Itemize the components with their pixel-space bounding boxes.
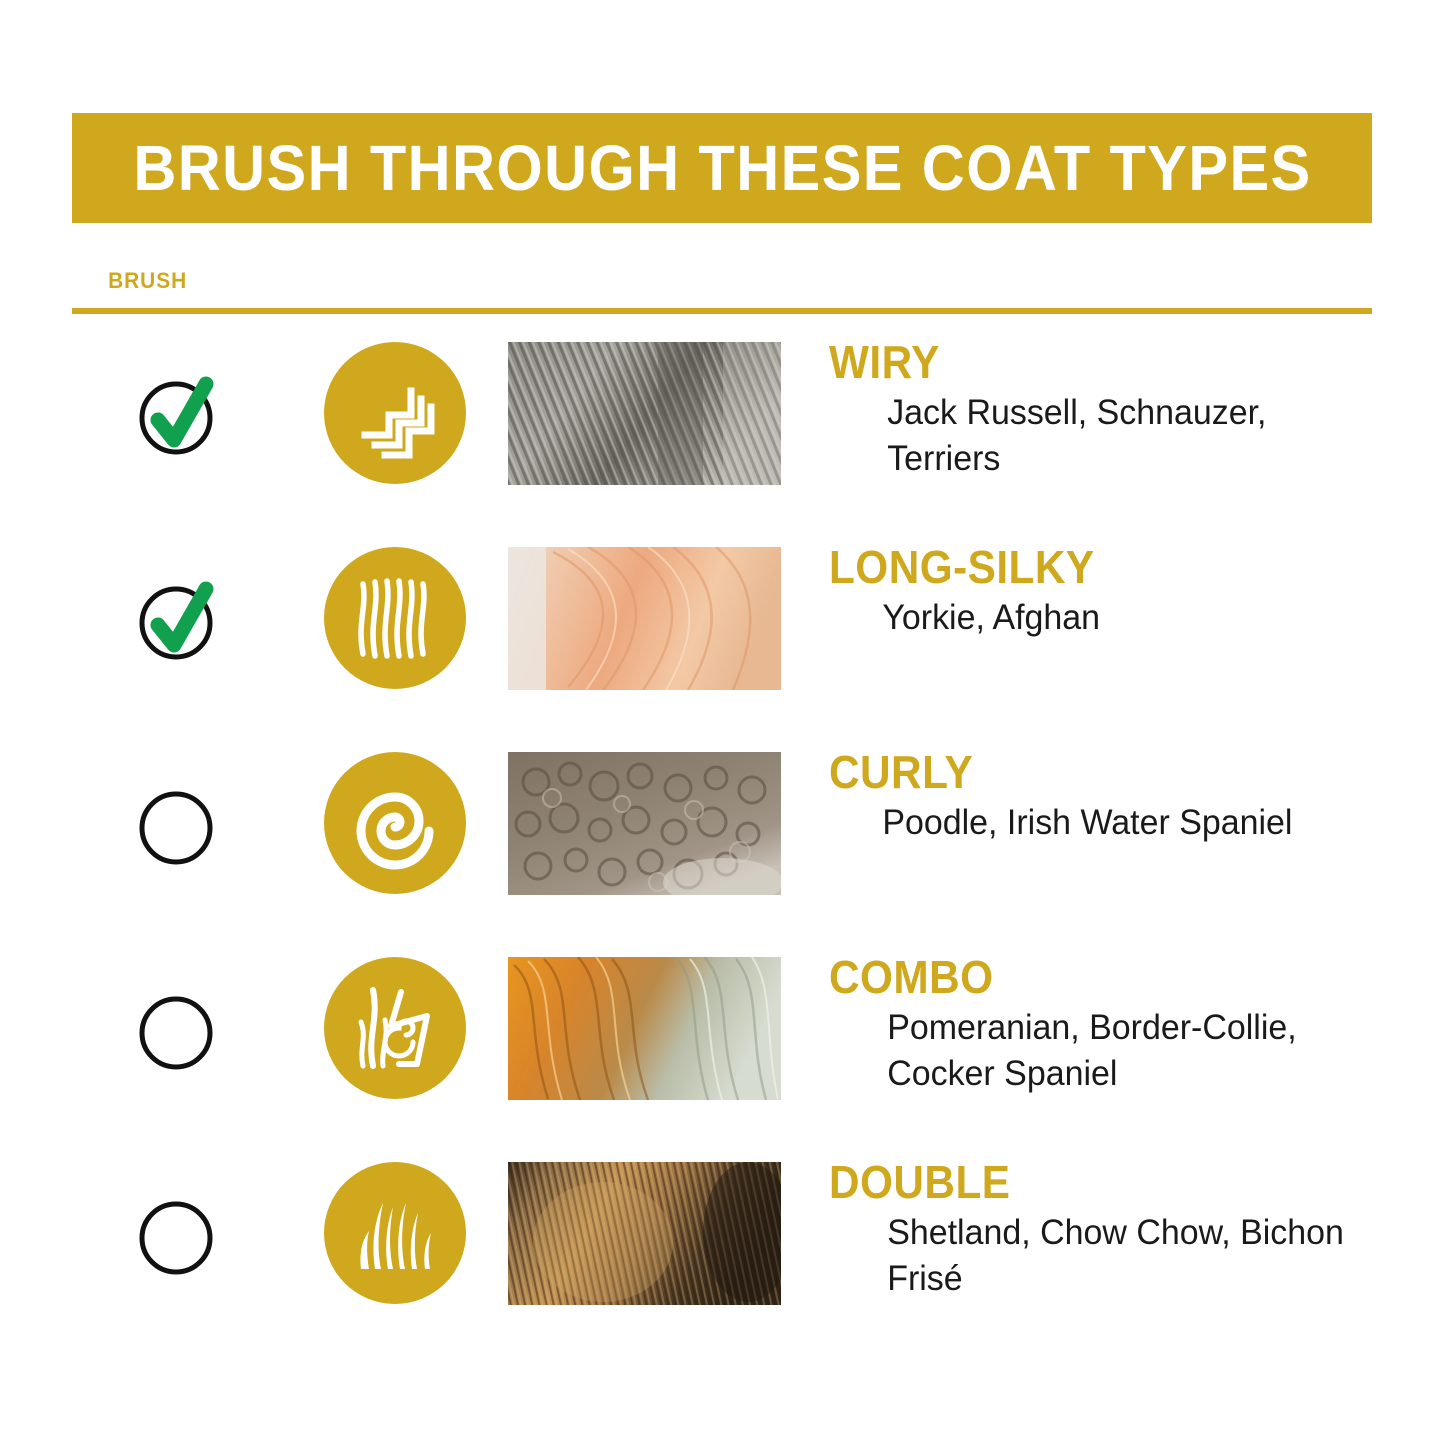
coat-type-list: WIRY Jack Russell, Schnauzer, Terriers bbox=[72, 330, 1372, 1355]
header-banner: BRUSH THROUGH THESE COAT TYPES bbox=[72, 113, 1372, 223]
coat-type-title: CURLY bbox=[829, 748, 1329, 796]
empty-circle-icon[interactable] bbox=[134, 778, 226, 870]
coat-photo-cell bbox=[502, 945, 817, 1100]
column-header: BRUSH bbox=[72, 268, 1372, 314]
table-row: LONG-SILKY Yorkie, Afghan bbox=[72, 535, 1372, 740]
coat-photo-cell bbox=[502, 1150, 817, 1305]
coat-text-cell: CURLY Poodle, Irish Water Spaniel bbox=[817, 740, 1372, 846]
coat-photo-cell bbox=[502, 330, 817, 485]
combo-coat-photo bbox=[508, 957, 781, 1100]
brush-suitability-cell[interactable] bbox=[72, 535, 287, 665]
infographic-page: BRUSH THROUGH THESE COAT TYPES BRUSH bbox=[0, 0, 1445, 1445]
coat-type-breeds: Yorkie, Afghan bbox=[829, 595, 1353, 641]
long-silky-coat-photo bbox=[508, 547, 781, 690]
coat-type-breeds: Jack Russell, Schnauzer, Terriers bbox=[829, 390, 1353, 482]
table-row: CURLY Poodle, Irish Water Spaniel bbox=[72, 740, 1372, 945]
page-title: BRUSH THROUGH THESE COAT TYPES bbox=[133, 136, 1311, 200]
combo-mixed-texture-icon bbox=[324, 957, 466, 1099]
brush-suitability-cell[interactable] bbox=[72, 330, 287, 460]
header-divider bbox=[72, 308, 1372, 314]
empty-circle-icon[interactable] bbox=[134, 983, 226, 1075]
coat-icon-cell bbox=[287, 945, 502, 1099]
wiry-zigzag-icon bbox=[324, 342, 466, 484]
coat-text-cell: WIRY Jack Russell, Schnauzer, Terriers bbox=[817, 330, 1372, 483]
double-coat-photo bbox=[508, 1162, 781, 1305]
brush-suitability-cell[interactable] bbox=[72, 1150, 287, 1280]
double-dense-strands-icon bbox=[324, 1162, 466, 1304]
coat-type-title: DOUBLE bbox=[829, 1158, 1329, 1206]
curly-spiral-icon bbox=[324, 752, 466, 894]
empty-circle-icon[interactable] bbox=[134, 1188, 226, 1280]
coat-type-title: COMBO bbox=[829, 953, 1329, 1001]
coat-type-breeds: Pomeranian, Border-Collie, Cocker Spanie… bbox=[829, 1005, 1353, 1097]
coat-type-breeds: Shetland, Chow Chow, Bichon Frisé bbox=[829, 1210, 1353, 1302]
brush-suitability-cell[interactable] bbox=[72, 945, 287, 1075]
coat-icon-cell bbox=[287, 535, 502, 689]
coat-icon-cell bbox=[287, 330, 502, 484]
coat-text-cell: COMBO Pomeranian, Border-Collie, Cocker … bbox=[817, 945, 1372, 1098]
wiry-coat-photo bbox=[508, 342, 781, 485]
table-row: DOUBLE Shetland, Chow Chow, Bichon Frisé bbox=[72, 1150, 1372, 1355]
coat-icon-cell bbox=[287, 740, 502, 894]
curly-coat-photo bbox=[508, 752, 781, 895]
coat-icon-cell bbox=[287, 1150, 502, 1304]
coat-text-cell: LONG-SILKY Yorkie, Afghan bbox=[817, 535, 1372, 641]
coat-type-breeds: Poodle, Irish Water Spaniel bbox=[829, 800, 1353, 846]
table-row: COMBO Pomeranian, Border-Collie, Cocker … bbox=[72, 945, 1372, 1150]
table-row: WIRY Jack Russell, Schnauzer, Terriers bbox=[72, 330, 1372, 535]
check-circle-icon[interactable] bbox=[134, 368, 226, 460]
coat-type-title: WIRY bbox=[829, 338, 1329, 386]
check-circle-icon[interactable] bbox=[134, 573, 226, 665]
brush-suitability-cell[interactable] bbox=[72, 740, 287, 870]
coat-type-title: LONG-SILKY bbox=[829, 543, 1329, 591]
long-silky-wavy-strands-icon bbox=[324, 547, 466, 689]
coat-text-cell: DOUBLE Shetland, Chow Chow, Bichon Frisé bbox=[817, 1150, 1372, 1303]
column-header-label: BRUSH bbox=[72, 268, 1307, 294]
coat-photo-cell bbox=[502, 535, 817, 690]
coat-photo-cell bbox=[502, 740, 817, 895]
